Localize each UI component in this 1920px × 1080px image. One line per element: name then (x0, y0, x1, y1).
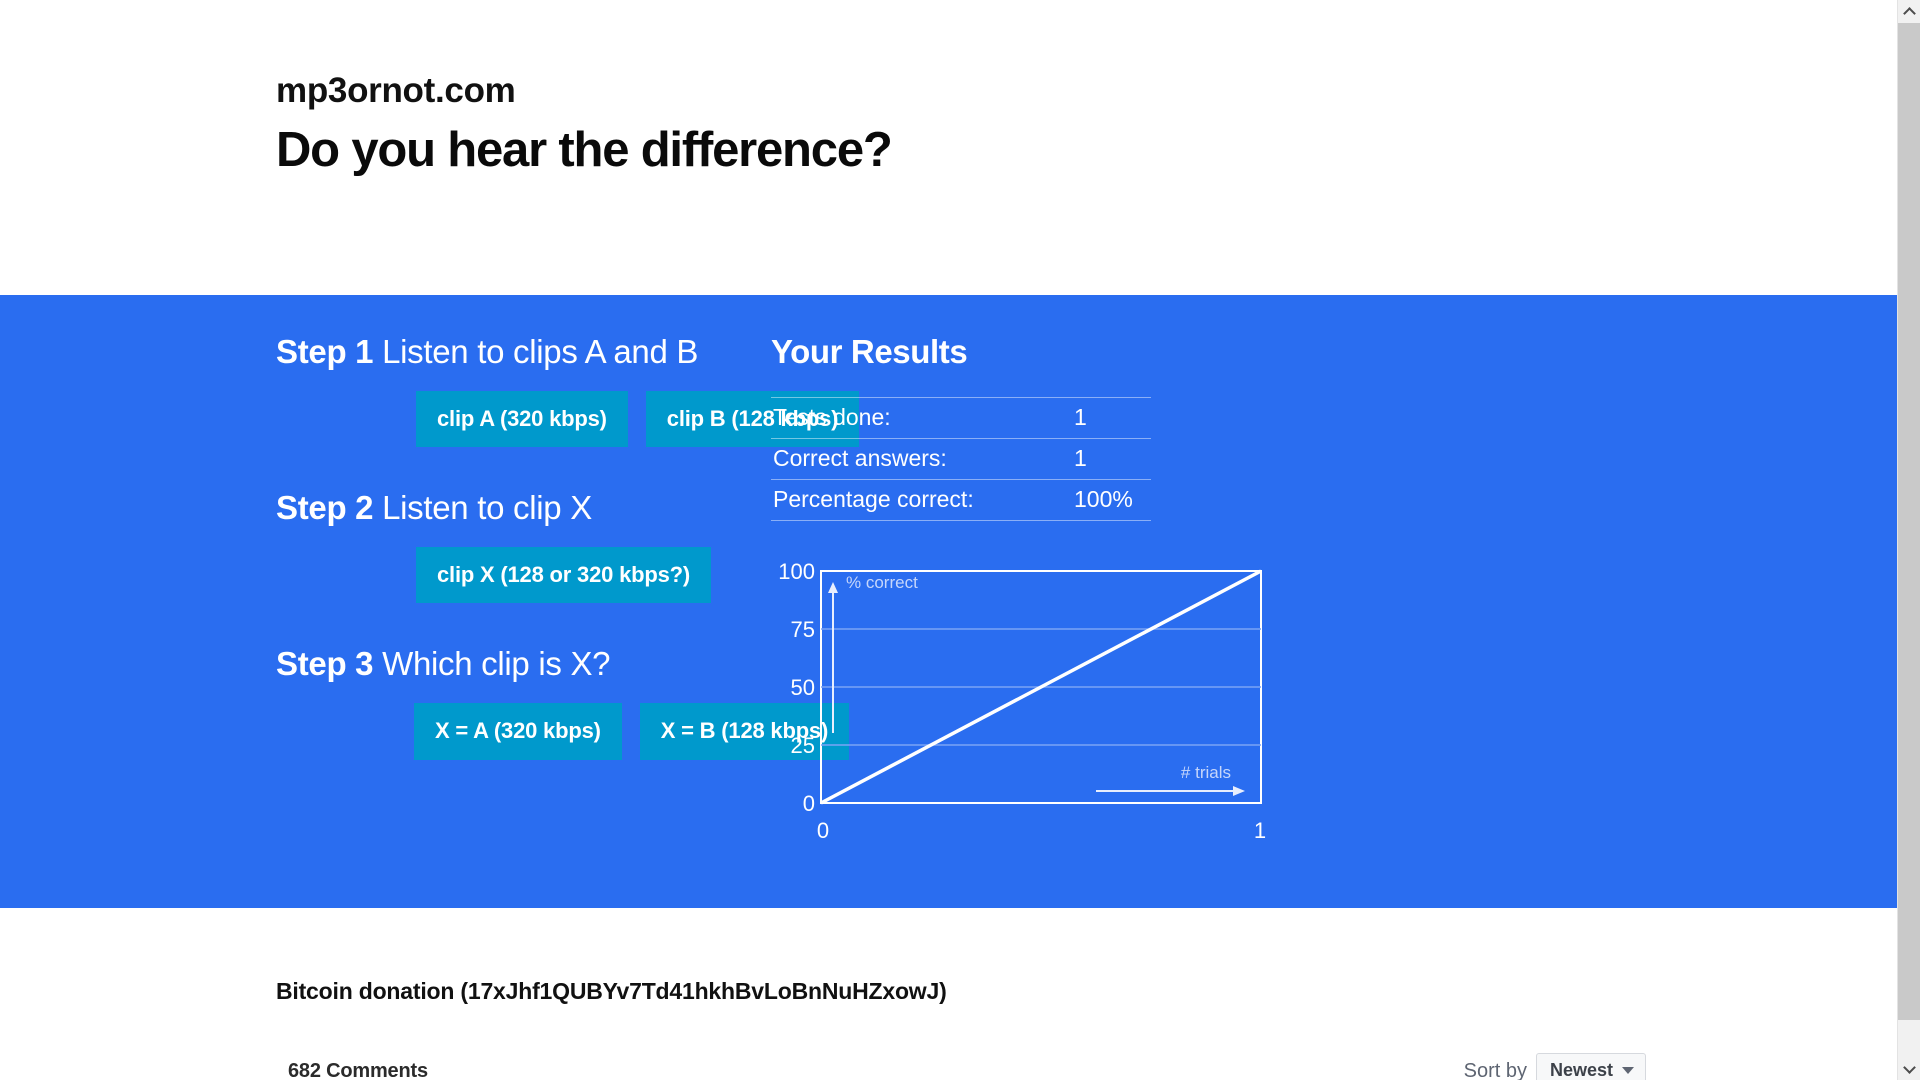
chevron-down-icon (1622, 1067, 1634, 1074)
page-root: mp3ornot.com Do you hear the difference?… (0, 0, 1920, 1080)
step-2-number: Step 2 (276, 489, 373, 526)
comments-count: 682 Comments (276, 1060, 428, 1080)
scroll-up-button[interactable] (1898, 0, 1920, 23)
chart-ytick-0: 0 (803, 791, 815, 816)
sort-by-select[interactable]: Newest (1536, 1053, 1646, 1080)
chart-svg: 100 75 50 25 0 0 1 % correct # trials (771, 563, 1281, 863)
comments-toolbar: 682 Comments Sort by Newest (276, 1053, 1646, 1080)
page-footer: Bitcoin donation (17xJhf1QUBYv7Td41hkhBv… (0, 908, 1897, 1080)
chart-xtick-0: 0 (817, 818, 829, 843)
chart-ylabel: % correct (846, 573, 918, 592)
step-2-text: Listen to clip X (373, 489, 592, 526)
chart-ytick-50: 50 (791, 675, 815, 700)
bitcoin-donation-text: Bitcoin donation (17xJhf1QUBYv7Td41hkhBv… (276, 978, 1897, 1005)
scroll-down-button[interactable] (1898, 1057, 1920, 1080)
step-1-number: Step 1 (276, 333, 373, 370)
answer-x-equals-a-button[interactable]: X = A (320 kbps) (414, 703, 622, 759)
step-2-heading: Step 2 Listen to clip X (276, 489, 735, 527)
correct-answers-label: Correct answers: (771, 439, 1056, 480)
percentage-correct-value: 100% (1056, 480, 1151, 521)
page-title: Do you hear the difference? (276, 125, 1897, 176)
sort-by-value: Newest (1550, 1060, 1613, 1080)
steps-column: Step 1 Listen to clips A and B clip A (3… (0, 333, 735, 908)
chart-xtick-1: 1 (1254, 818, 1266, 843)
step-3-heading: Step 3 Which clip is X? (276, 645, 735, 683)
sort-control: Sort by Newest (1464, 1053, 1646, 1080)
chart-xlabel: # trials (1181, 763, 1231, 782)
results-chart: 100 75 50 25 0 0 1 % correct # trials (771, 563, 1281, 863)
step-3-number: Step 3 (276, 645, 373, 682)
step-1-text: Listen to clips A and B (373, 333, 698, 370)
step-3-button-row: X = A (320 kbps) X = B (128 kbps) (276, 703, 735, 759)
play-clip-a-button[interactable]: clip A (320 kbps) (416, 391, 628, 447)
tests-done-value: 1 (1056, 398, 1151, 439)
results-heading: Your Results (771, 333, 1897, 371)
step-2-button-row: clip X (128 or 320 kbps?) (276, 547, 735, 603)
chart-ytick-100: 100 (778, 563, 815, 584)
chart-y-axis-arrow (828, 582, 838, 733)
spacer-2 (276, 603, 735, 645)
test-section: Step 1 Listen to clips A and B clip A (3… (0, 295, 1897, 908)
play-clip-x-button[interactable]: clip X (128 or 320 kbps?) (416, 547, 711, 603)
chart-ytick-75: 75 (791, 617, 815, 642)
tests-done-label: Tests done: (771, 398, 1056, 439)
chevron-up-icon (1903, 7, 1916, 20)
table-row: Percentage correct: 100% (771, 480, 1151, 521)
chart-x-axis-arrow (1096, 786, 1245, 796)
scrollbar-thumb[interactable] (1898, 23, 1920, 1020)
step-1-heading: Step 1 Listen to clips A and B (276, 333, 735, 371)
page-header: mp3ornot.com Do you hear the difference? (0, 0, 1897, 295)
correct-answers-value: 1 (1056, 439, 1151, 480)
spacer-1 (276, 447, 735, 489)
chevron-down-icon (1903, 1061, 1916, 1074)
percentage-correct-label: Percentage correct: (771, 480, 1056, 521)
chart-ytick-25: 25 (791, 733, 815, 758)
site-brand: mp3ornot.com (276, 72, 1897, 111)
browser-viewport: mp3ornot.com Do you hear the difference?… (0, 0, 1897, 1080)
step-3-text: Which clip is X? (373, 645, 610, 682)
table-row: Tests done: 1 (771, 398, 1151, 439)
vertical-scrollbar[interactable] (1897, 0, 1920, 1080)
sort-by-label: Sort by (1464, 1060, 1527, 1080)
results-table: Tests done: 1 Correct answers: 1 Percent… (771, 397, 1151, 521)
table-row: Correct answers: 1 (771, 439, 1151, 480)
results-column: Your Results Tests done: 1 Correct answe… (735, 333, 1897, 908)
step-1-button-row: clip A (320 kbps) clip B (128 kbps) (276, 391, 735, 447)
